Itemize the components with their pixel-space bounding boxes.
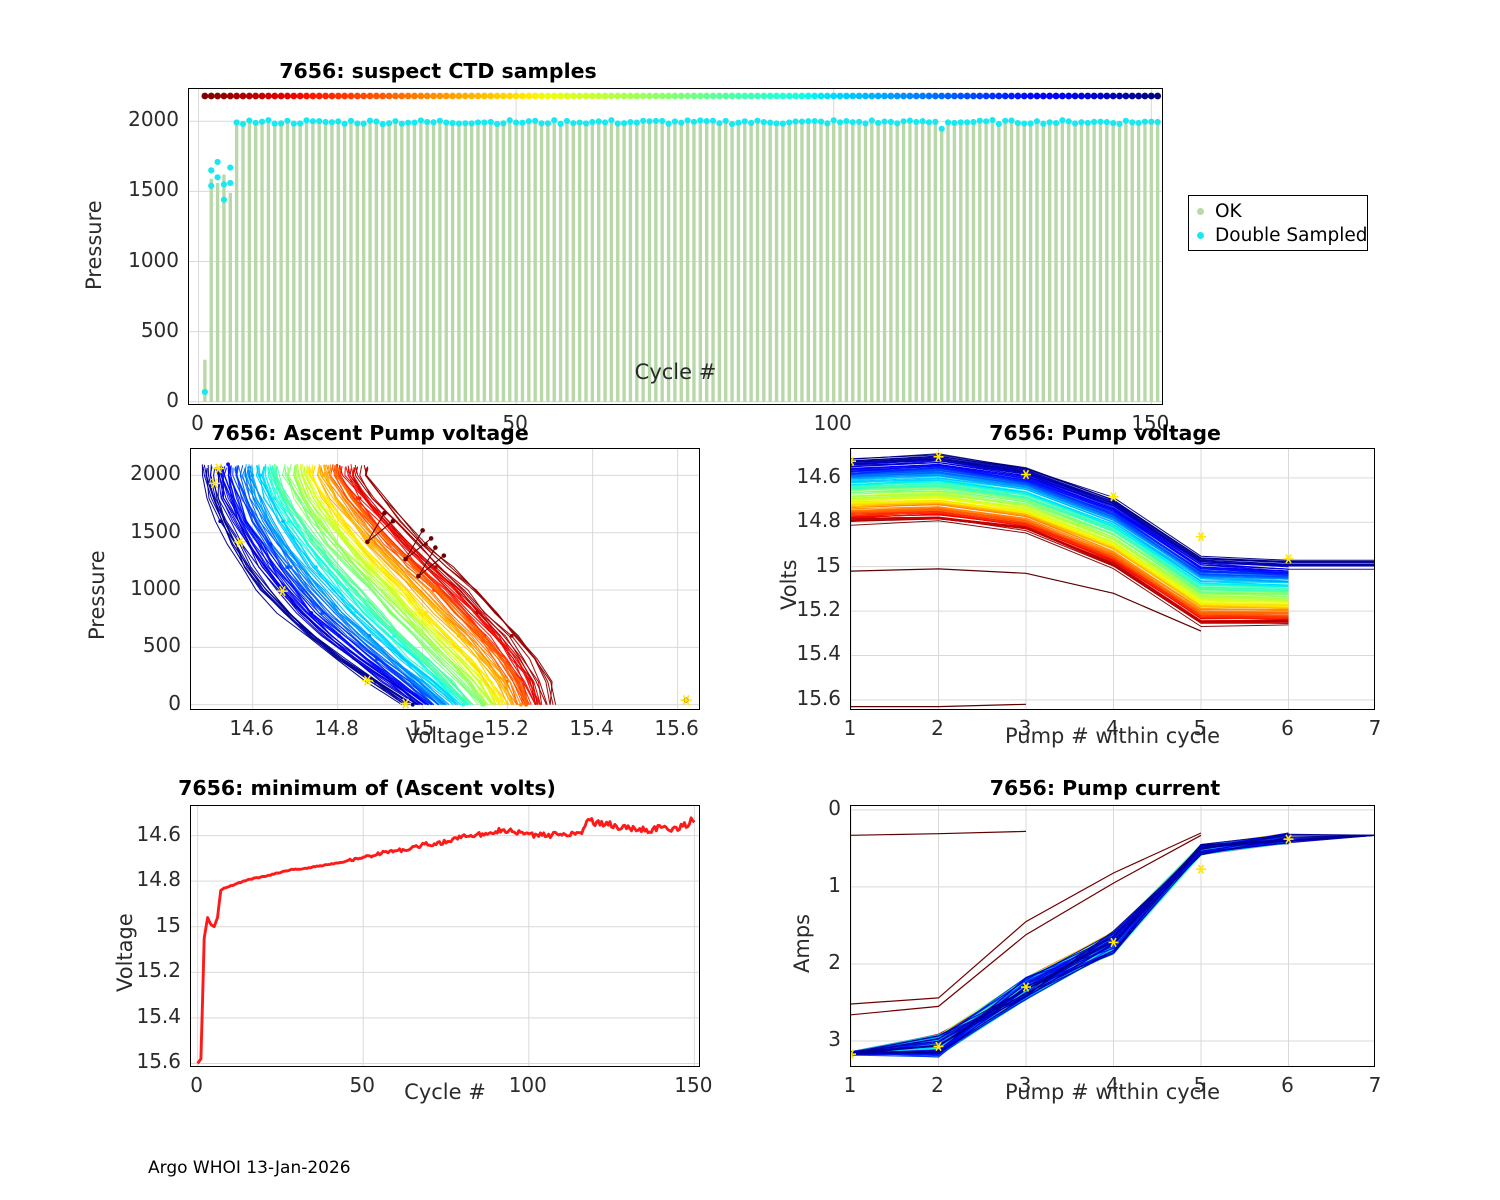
pump-voltage-canvas [851, 449, 1375, 710]
xtick-5: 5 [1170, 1073, 1230, 1097]
panel-title-ascent-pump-voltage: 7656: Ascent Pump voltage [0, 421, 745, 445]
xtick-7: 7 [1345, 716, 1405, 740]
xtick-2: 2 [908, 1073, 968, 1097]
legend-dot-double-sampled [1197, 232, 1204, 239]
xtick-15: 15 [377, 716, 467, 740]
panel-min-ascent-volts: 7656: minimum of (Ascent volts) Voltage … [0, 770, 750, 1120]
xtick-0: 0 [157, 1073, 237, 1097]
axis-label-cycle-4: Cycle # [190, 1080, 700, 1104]
legend-dot-ok [1197, 208, 1204, 215]
ytick-15: 15 [751, 553, 841, 577]
xtick-14.8: 14.8 [292, 716, 382, 740]
ytick-1: 1 [771, 873, 841, 897]
xtick-4: 4 [1083, 716, 1143, 740]
ytick-500: 500 [91, 633, 181, 657]
ytick-15.6: 15.6 [751, 686, 841, 710]
legend-suspect-ctd: OK Double Sampled [1188, 195, 1368, 251]
axis-label-pressure-1: Pressure [82, 200, 106, 290]
xtick-14.6: 14.6 [207, 716, 297, 740]
ytick-14.6: 14.6 [751, 464, 841, 488]
legend-item-ok: OK [1197, 201, 1242, 222]
ytick-15.4: 15.4 [86, 1004, 181, 1028]
ascent-profiles [202, 462, 688, 706]
ytick-2000: 2000 [91, 461, 181, 485]
xtick-4: 4 [1083, 1073, 1143, 1097]
panel-ascent-pump-voltage: 7656: Ascent Pump voltage Pressure Volta… [0, 415, 750, 765]
xtick-1: 1 [820, 716, 880, 740]
ytick-0: 0 [91, 691, 181, 715]
xtick-15.2: 15.2 [462, 716, 552, 740]
xtick-15.6: 15.6 [632, 716, 722, 740]
ytick-1500: 1500 [91, 519, 181, 543]
xtick-100: 100 [488, 1073, 568, 1097]
panel-title-min-ascent-volts: 7656: minimum of (Ascent volts) [0, 776, 742, 800]
panel-title-pump-current: 7656: Pump current [730, 776, 1480, 800]
xtick-3: 3 [995, 716, 1055, 740]
ytick-1000: 1000 [91, 576, 181, 600]
xtick-50: 50 [322, 1073, 402, 1097]
legend-item-double-sampled: Double Sampled [1197, 225, 1368, 246]
plot-area-pump-voltage [850, 448, 1375, 710]
cycle-color-row [201, 93, 1161, 100]
plot-area-min-ascent-volts [190, 805, 700, 1067]
star-marker [681, 695, 692, 705]
xtick-7: 7 [1345, 1073, 1405, 1097]
footer-credit: Argo WHOI 13-Jan-2026 [148, 1158, 351, 1178]
pump-current-canvas [851, 806, 1375, 1067]
ytick-1000: 1000 [89, 248, 179, 272]
ytick-500: 500 [89, 318, 179, 342]
ytick-15.2: 15.2 [86, 958, 181, 982]
panel-pump-current: 7656: Pump current Amps Pump # within cy… [750, 770, 1500, 1120]
ytick-14.8: 14.8 [86, 867, 181, 891]
plot-area-pump-current [850, 805, 1375, 1067]
ytick-3: 3 [771, 1027, 841, 1051]
ytick-15: 15 [86, 913, 181, 937]
xtick-2: 2 [908, 716, 968, 740]
ytick-0: 0 [89, 388, 179, 412]
panel-suspect-ctd: 7656: suspect CTD samples Pressure Cycle… [0, 55, 1500, 400]
xtick-15.4: 15.4 [547, 716, 637, 740]
min-ascent-volts-canvas [191, 806, 700, 1067]
panel-pump-voltage: 7656: Pump voltage Volts Pump # within c… [750, 415, 1500, 765]
ytick-2: 2 [771, 950, 841, 974]
ascent-pump-voltage-canvas [191, 449, 700, 710]
xtick-3: 3 [995, 1073, 1055, 1097]
legend-label-double-sampled: Double Sampled [1215, 225, 1368, 246]
suspect-ctd-canvas [189, 89, 1163, 405]
ytick-15.6: 15.6 [86, 1049, 181, 1073]
ytick-14.6: 14.6 [86, 822, 181, 846]
panel-title-suspect-ctd: 7656: suspect CTD samples [0, 59, 1188, 83]
xtick-1: 1 [820, 1073, 880, 1097]
ytick-0: 0 [771, 796, 841, 820]
ytick-14.8: 14.8 [751, 508, 841, 532]
plot-area-suspect-ctd [188, 88, 1163, 405]
xtick-5: 5 [1170, 716, 1230, 740]
xtick-6: 6 [1258, 1073, 1318, 1097]
ytick-15.2: 15.2 [751, 597, 841, 621]
legend-label-ok: OK [1215, 201, 1242, 222]
plot-area-ascent-pump-voltage [190, 448, 700, 710]
ytick-1500: 1500 [89, 177, 179, 201]
ytick-2000: 2000 [89, 107, 179, 131]
panel-title-pump-voltage: 7656: Pump voltage [730, 421, 1480, 445]
min-volts-trace [198, 818, 695, 1064]
xtick-150: 150 [653, 1073, 733, 1097]
xtick-6: 6 [1258, 716, 1318, 740]
axis-label-cycle-1: Cycle # [188, 360, 1163, 384]
ytick-15.4: 15.4 [751, 641, 841, 665]
